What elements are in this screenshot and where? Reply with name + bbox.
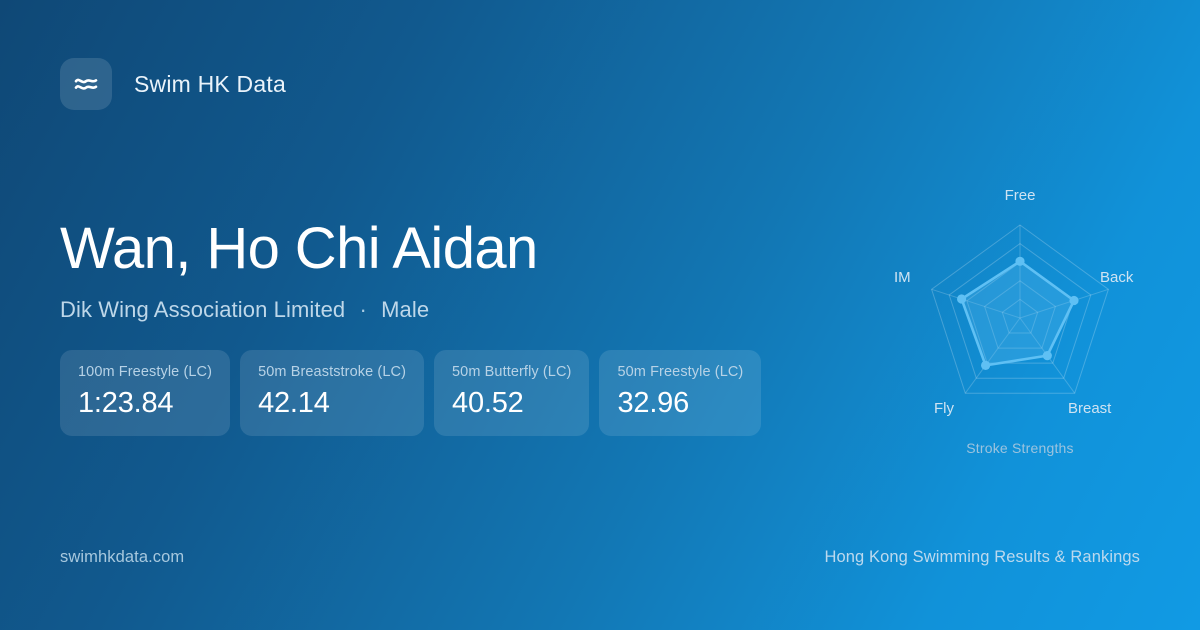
stat-label: 50m Breaststroke (LC)	[258, 364, 406, 380]
footer-site-url: swimhkdata.com	[60, 548, 184, 567]
stat-value: 42.14	[258, 387, 406, 420]
stat-card: 50m Freestyle (LC) 32.96	[599, 350, 761, 436]
radar-caption: Stroke Strengths	[860, 440, 1180, 456]
stat-value: 1:23.84	[78, 387, 212, 420]
brand-lockup: Swim HK Data	[60, 58, 286, 110]
radar-axis-label-fly: Fly	[934, 400, 954, 417]
stat-card: 50m Butterfly (LC) 40.52	[434, 350, 589, 436]
stat-label: 100m Freestyle (LC)	[78, 364, 212, 380]
radar-data-point	[1015, 257, 1024, 266]
radar-axis-label-im: IM	[894, 269, 911, 286]
wave-icon	[60, 58, 112, 110]
meta-separator: ·	[351, 297, 374, 322]
stat-label: 50m Freestyle (LC)	[617, 364, 743, 380]
radar-data-point	[981, 361, 990, 370]
page-title: Wan, Ho Chi Aidan	[60, 218, 820, 279]
og-card: Swim HK Data Wan, Ho Chi Aidan Dik Wing …	[0, 0, 1200, 630]
stat-card: 50m Breaststroke (LC) 42.14	[240, 350, 424, 436]
hero-block: Wan, Ho Chi Aidan Dik Wing Association L…	[60, 218, 820, 323]
gender-label: Male	[381, 297, 429, 322]
radar-axis-label-back: Back	[1100, 269, 1133, 286]
stroke-strengths-radar-chart: Free Back Breast Fly IM Stroke Strengths	[860, 165, 1180, 475]
radar-svg	[860, 165, 1180, 475]
radar-data-point	[957, 294, 966, 303]
radar-data-point	[1069, 296, 1078, 305]
stat-card-row: 100m Freestyle (LC) 1:23.84 50m Breastst…	[60, 350, 761, 436]
stat-label: 50m Butterfly (LC)	[452, 364, 571, 380]
stat-value: 40.52	[452, 387, 571, 420]
stat-card: 100m Freestyle (LC) 1:23.84	[60, 350, 230, 436]
club-name: Dik Wing Association Limited	[60, 297, 345, 322]
athlete-meta: Dik Wing Association Limited · Male	[60, 297, 820, 323]
radar-data-point	[1043, 351, 1052, 360]
footer-tagline: Hong Kong Swimming Results & Rankings	[824, 548, 1140, 567]
radar-axis-label-free: Free	[860, 187, 1180, 204]
radar-axis-label-breast: Breast	[1068, 400, 1111, 417]
brand-name: Swim HK Data	[134, 71, 286, 98]
stat-value: 32.96	[617, 387, 743, 420]
